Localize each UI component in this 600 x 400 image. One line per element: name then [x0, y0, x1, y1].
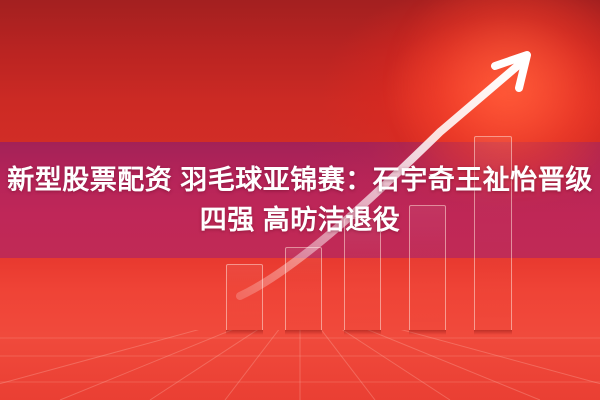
chart-bar-5-shadow	[474, 330, 512, 335]
thumbnail-banner: 新型股票配资 羽毛球亚锦赛：石宇奇王祉怡晋级四强 高昉洁退役	[0, 0, 600, 400]
chart-bar-1	[226, 264, 263, 330]
chart-bar-4-shadow	[409, 330, 446, 335]
chart-bar-3-shadow	[344, 330, 381, 335]
chart-bar-2-shadow	[285, 330, 322, 335]
chart-bar-1-shadow	[226, 330, 263, 335]
page-title: 新型股票配资 羽毛球亚锦赛：石宇奇王祉怡晋级四强 高昉洁退役	[0, 160, 600, 240]
chart-bar-2	[285, 247, 322, 330]
